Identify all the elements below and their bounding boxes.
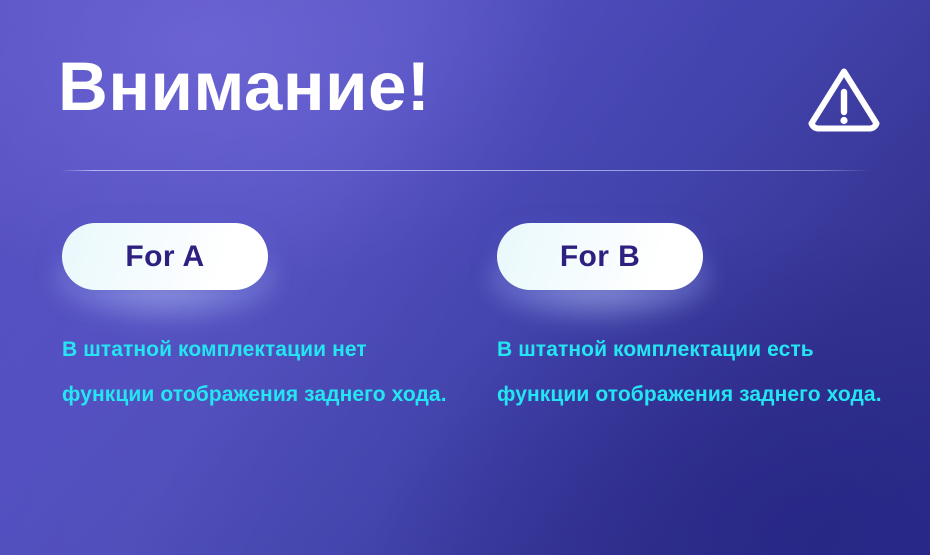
pill-wrap-for-a: For A (62, 223, 268, 290)
warning-slide: Внимание! For A В штатной комплектации н… (0, 0, 930, 555)
pill-button-for-a[interactable]: For A (62, 223, 268, 290)
pill-label-for-b: For B (560, 242, 640, 272)
pill-label-for-a: For A (125, 242, 204, 272)
page-title: Внимание! (58, 52, 430, 121)
pill-button-for-b[interactable]: For B (497, 223, 703, 290)
description-for-a: В штатной комплектации нет функции отобр… (62, 327, 454, 417)
column-for-b: For B В штатной комплектации есть функци… (497, 223, 897, 290)
header-divider (60, 170, 870, 171)
pill-wrap-for-b: For B (497, 223, 703, 290)
column-for-a: For A В штатной комплектации нет функции… (62, 223, 462, 290)
description-for-b: В штатной комплектации есть функции отоб… (497, 327, 889, 417)
warning-triangle-icon (806, 61, 882, 137)
